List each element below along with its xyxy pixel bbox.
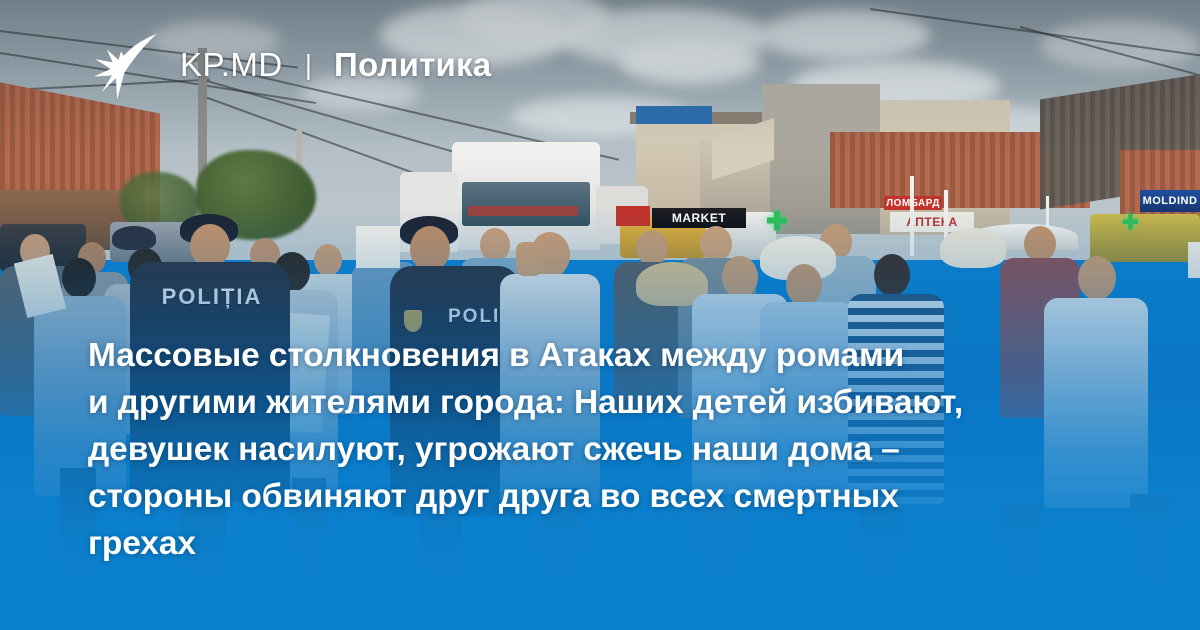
share-card: MARKET АПТЕКА ЛОМБАРД MOLDIND ✚ ✚ xyxy=(0,0,1200,630)
headline-line-4: стороны обвиняют друг друга во всех смер… xyxy=(88,473,1028,520)
headline: Массовые столкновения в Атаках между ром… xyxy=(88,332,1028,567)
card-header: KP.MD | Политика xyxy=(0,0,1200,130)
headline-line-2: и другими жителями города: Наших детей и… xyxy=(88,379,1028,426)
brand-name[interactable]: KP.MD xyxy=(180,46,283,84)
headline-line-3: девушек насилуют, угрожают сжечь наши до… xyxy=(88,426,1028,473)
brand-section[interactable]: Политика xyxy=(334,46,491,84)
headline-line-5: грехах xyxy=(88,520,1028,567)
kp-swallow-bird-icon xyxy=(92,30,158,100)
brand-separator: | xyxy=(305,49,312,81)
brand-line: KP.MD | Политика xyxy=(180,46,491,84)
headline-line-1: Массовые столкновения в Атаках между ром… xyxy=(88,332,1028,379)
